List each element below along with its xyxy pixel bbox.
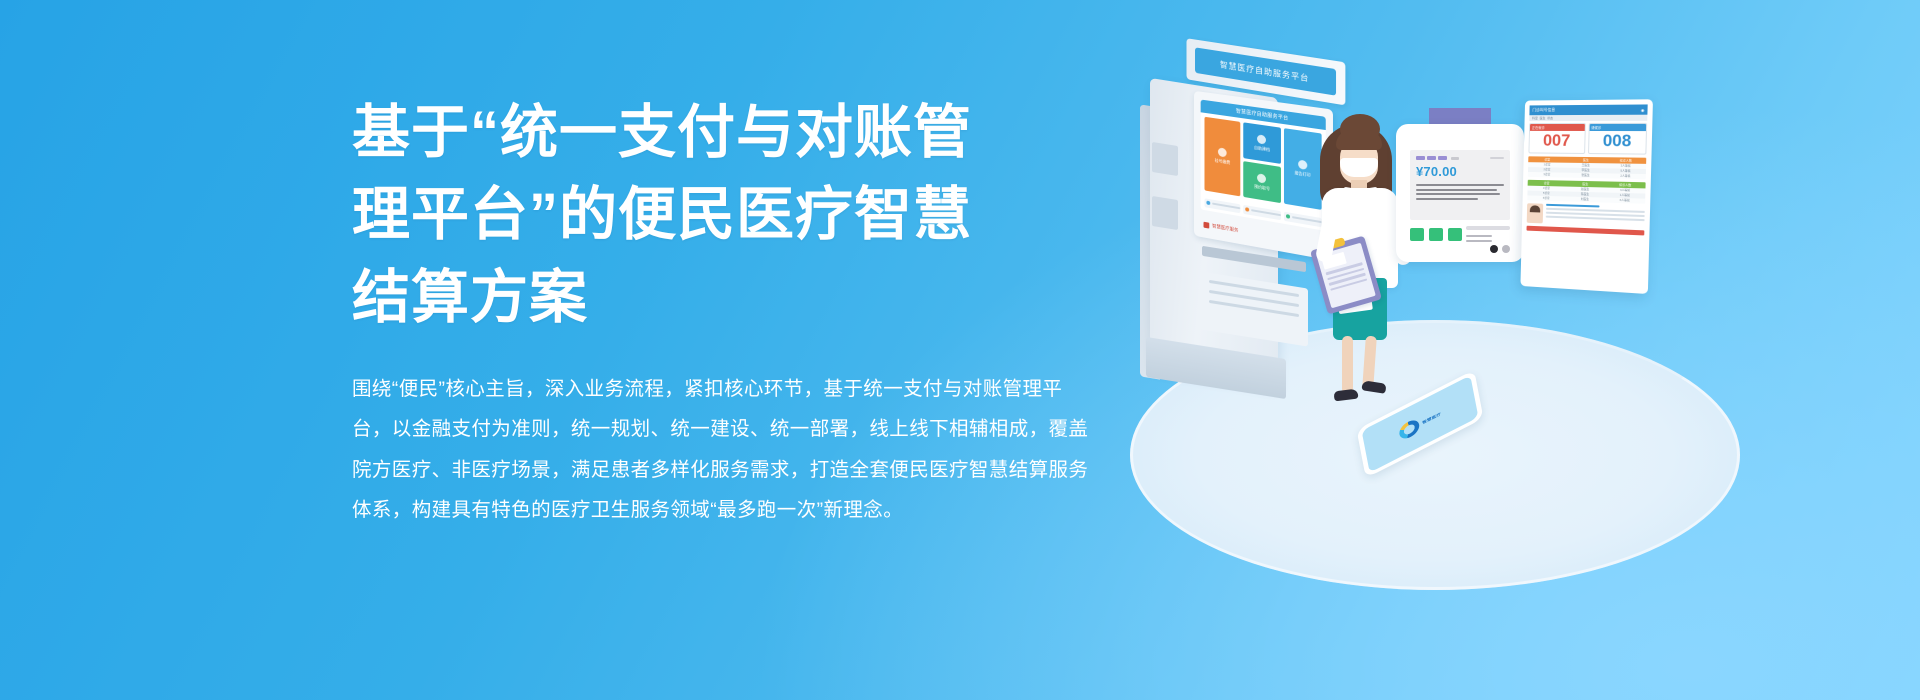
shoe-left	[1333, 389, 1358, 402]
queue-column-header: 医生	[1540, 116, 1546, 120]
description-line-4: 体系，构建具有特色的医疗卫生服务领域“最多跑一次”新理念。	[352, 490, 1112, 530]
terminal-buttons[interactable]	[1466, 245, 1510, 253]
receipt-lines	[1416, 184, 1504, 200]
headline-line-1: 基于“统一支付与对账管	[352, 92, 1112, 174]
queue-column-header: 状态	[1547, 116, 1553, 120]
table-cell: 张医生	[1566, 172, 1605, 178]
table-cell: 2人等候	[1605, 173, 1646, 179]
queue-doctor-panel	[1527, 203, 1645, 227]
queue-board-columns: 科室 医生 状态	[1529, 115, 1647, 121]
terminal-right-controls	[1466, 226, 1510, 253]
keypad-key[interactable]	[1448, 228, 1462, 241]
pos-terminal: ¥70.00	[1396, 108, 1524, 262]
terminal-keypad[interactable]	[1410, 228, 1462, 241]
queue-title-text: 门诊叫号信息	[1532, 107, 1555, 113]
description-line-3: 院方医疗、非医疗场景，满足患者多样化服务需求，打造全套便民医疗智慧结算服务	[352, 450, 1112, 490]
shoe-right	[1361, 380, 1386, 394]
page-title: 基于“统一支付与对账管 理平台”的便民医疗智慧 结算方案	[352, 92, 1112, 339]
table-row: 3诊室 张医生 2人等候	[1528, 172, 1646, 179]
table-cell: 刘医生	[1565, 196, 1604, 202]
kiosk-footer-label	[1251, 209, 1280, 216]
keypad-key[interactable]	[1410, 228, 1424, 241]
payment-amount: ¥70.00	[1416, 164, 1504, 179]
hero-description: 围绕“便民”核心主旨，深入业务流程，紧扣核心环节，基于统一支付与对账管理平 台，…	[352, 369, 1112, 530]
help-icon	[1286, 214, 1290, 219]
kiosk-tile-registration[interactable]: 挂号缴费	[1204, 117, 1240, 197]
table-cell: 6诊室	[1527, 195, 1565, 201]
description-line-2: 台，以金融支付为准则，统一规划、统一建设、统一部署，线上线下相辅相成，覆盖	[352, 409, 1112, 449]
queue-board-clock-icon: ◉	[1641, 107, 1645, 112]
description-line-1: 围绕“便民”核心主旨，深入业务流程，紧扣核心环节，基于统一支付与对账管理平	[352, 369, 1112, 409]
plus-icon	[1218, 147, 1227, 157]
doctor-name-bar	[1546, 204, 1600, 208]
terminal-bar-small	[1466, 235, 1492, 237]
chip-muted	[1451, 157, 1459, 160]
table-cell: 6人等候	[1605, 197, 1646, 203]
kiosk-footer-label	[1212, 203, 1240, 210]
fee-icon	[1246, 207, 1250, 212]
queue-number-cards: 正在就诊 007 请候诊 008	[1528, 123, 1647, 154]
kiosk-tile-label: 自助建档	[1254, 144, 1270, 152]
chip	[1427, 156, 1436, 160]
guide-icon	[1206, 201, 1210, 206]
doctor-info	[1546, 204, 1645, 223]
headline-line-3: 结算方案	[352, 257, 1112, 339]
receipt-line	[1416, 189, 1497, 191]
kiosk-footer-button-guide[interactable]	[1204, 198, 1240, 213]
phone-logo-label: 智慧医疗	[1422, 411, 1441, 425]
terminal-bar-small	[1466, 240, 1492, 242]
kiosk-tile-appointment[interactable]: 预约取号	[1244, 161, 1281, 203]
chip	[1438, 156, 1447, 160]
hair-front	[1336, 130, 1382, 150]
leg-left	[1342, 336, 1353, 394]
terminal-button-secondary[interactable]	[1502, 245, 1510, 253]
face-mask-icon	[1340, 158, 1378, 177]
queue-current-card: 正在就诊 007	[1528, 123, 1585, 154]
terminal-screen: ¥70.00	[1410, 150, 1510, 220]
doctor-avatar	[1527, 203, 1544, 223]
receipt-line	[1416, 184, 1504, 186]
brand-mark-icon	[1204, 222, 1210, 229]
kiosk-brand-label: 智慧医疗服务	[1212, 223, 1238, 234]
app-logo-icon	[1398, 417, 1420, 442]
user-icon	[1258, 134, 1267, 144]
chip	[1416, 156, 1425, 160]
kiosk-plate-upper	[1152, 142, 1178, 176]
terminal-button-primary[interactable]	[1490, 245, 1498, 253]
queue-band-orange: 诊室 医生 候诊人数 1诊室 王医生 3人等候 2诊室 李医生 5人等候 3诊室…	[1528, 156, 1646, 179]
queue-next-card: 请候诊 008	[1588, 123, 1648, 154]
headline-line-2: 理平台”的便民医疗智慧	[352, 174, 1112, 256]
queue-ticker	[1527, 225, 1645, 235]
kiosk-footer-button-fee[interactable]	[1244, 204, 1281, 219]
hero-text-block: 基于“统一支付与对账管 理平台”的便民医疗智慧 结算方案 围绕“便民”核心主旨，…	[352, 92, 1112, 531]
terminal-status-chips	[1416, 156, 1504, 160]
kiosk-tile-label: 预约取号	[1254, 183, 1270, 192]
kiosk-tile-label: 挂号缴费	[1215, 158, 1230, 166]
queue-display-board: 门诊叫号信息 ◉ 科室 医生 状态 正在就诊 007 请候诊 008	[1520, 99, 1653, 294]
calendar-icon	[1258, 173, 1267, 183]
chip-right	[1490, 157, 1504, 159]
receipt-line	[1416, 193, 1500, 195]
kiosk-plate-lower	[1152, 196, 1178, 230]
terminal-bar	[1466, 226, 1510, 230]
keypad-key[interactable]	[1429, 228, 1443, 241]
hero-banner: 基于“统一支付与对账管 理平台”的便民医疗智慧 结算方案 围绕“便民”核心主旨，…	[0, 0, 1920, 700]
terminal-shell: ¥70.00	[1396, 124, 1524, 262]
queue-band-green: 诊室 医生 候诊人数 4诊室 赵医生 4人等候 5诊室 陈医生 1人等候 6诊室…	[1527, 179, 1645, 203]
queue-next-number: 008	[1589, 131, 1646, 153]
table-cell: 3诊室	[1528, 172, 1566, 178]
kiosk-tile-archive[interactable]: 自助建档	[1244, 122, 1281, 164]
queue-column-header: 科室	[1532, 116, 1538, 120]
hero-illustration: 智慧医疗自助服务平台 智慧医疗自助服务平台 挂号缴费 自助建档	[1110, 20, 1810, 660]
queue-next-label: 请候诊	[1589, 124, 1646, 131]
receipt-line	[1416, 198, 1478, 200]
queue-current-number: 007	[1529, 131, 1584, 153]
queue-board-title: 门诊叫号信息 ◉	[1529, 104, 1647, 115]
